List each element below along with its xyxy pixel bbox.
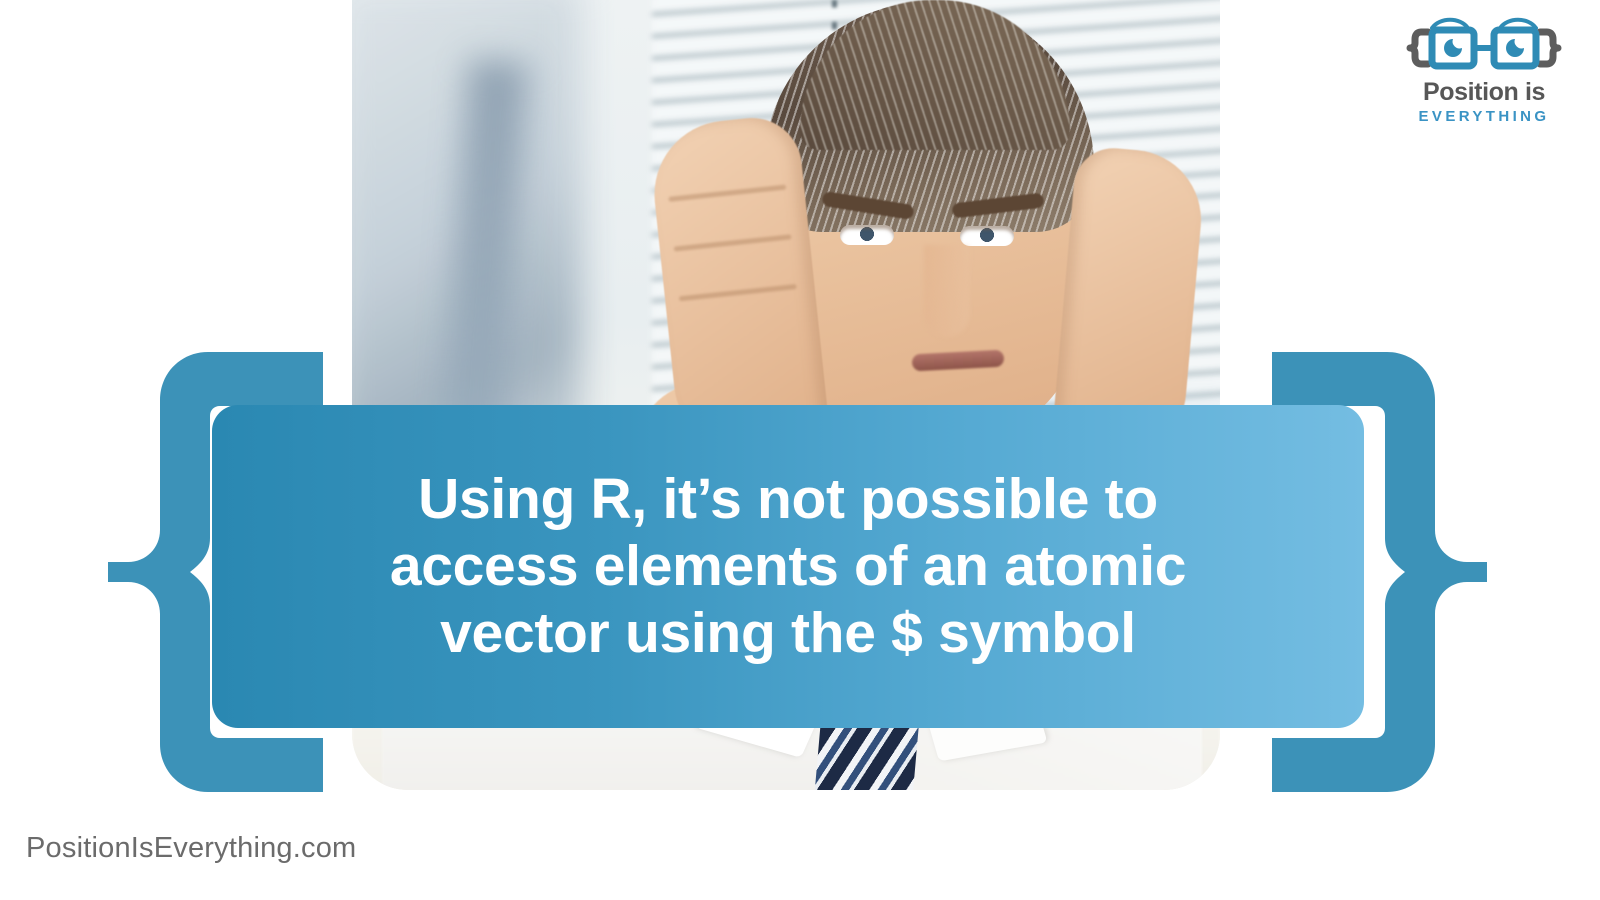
logo-wordmark: Position is [1423,80,1545,105]
headline-text: Using R, it’s not possible to access ele… [212,466,1364,668]
logo-subtitle: EVERYTHING [1419,109,1550,124]
headline-line-3: vector using the $ symbol [252,600,1324,667]
headline-line-2: access elements of an atomic [252,533,1324,600]
nose [924,245,970,337]
site-watermark: PositionIsEverything.com [26,832,356,865]
eye-right [960,226,1014,246]
headline-banner: Using R, it’s not possible to access ele… [212,405,1364,728]
poster-canvas: Using R, it’s not possible to access ele… [0,0,1600,900]
brand-logo[interactable]: Position is EVERYTHING [1394,12,1574,130]
eye-left [840,225,894,245]
glasses-brackets-icon [1404,12,1564,78]
headline-line-1: Using R, it’s not possible to [252,466,1324,533]
